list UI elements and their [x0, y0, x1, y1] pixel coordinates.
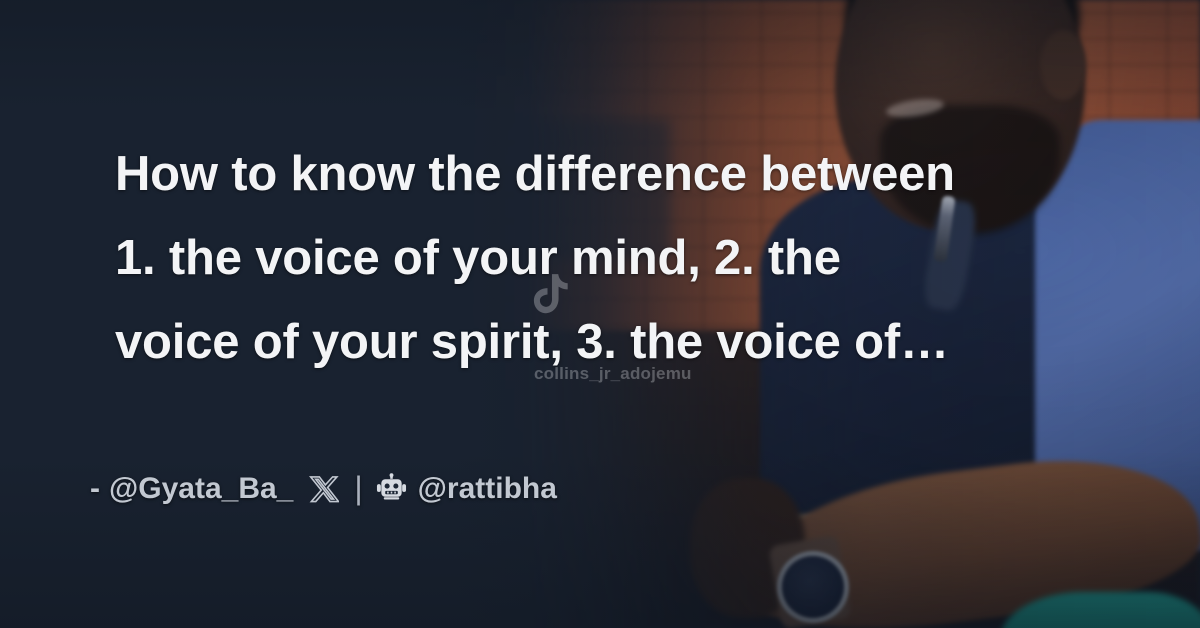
quote-line-1: How to know the difference between	[115, 132, 1095, 216]
quote-text: How to know the difference between 1. th…	[115, 132, 1095, 384]
attribution-bar: - @Gyata_Ba_ |	[90, 470, 557, 507]
x-logo-icon[interactable]	[309, 474, 339, 504]
robot-icon	[376, 473, 407, 504]
author-handle[interactable]: @Gyata_Ba_	[109, 472, 293, 506]
quote-line-2: 1. the voice of your mind, 2. the	[115, 216, 1095, 300]
quote-card: collins_jr_adojemu How to know the diffe…	[0, 0, 1200, 628]
service-handle[interactable]: @rattibha	[418, 472, 557, 506]
card-content: How to know the difference between 1. th…	[0, 0, 1200, 628]
quote-line-3: voice of your spirit, 3. the voice of…	[115, 300, 1095, 384]
attribution-dash: -	[90, 472, 100, 506]
attribution-separator: |	[354, 470, 362, 507]
